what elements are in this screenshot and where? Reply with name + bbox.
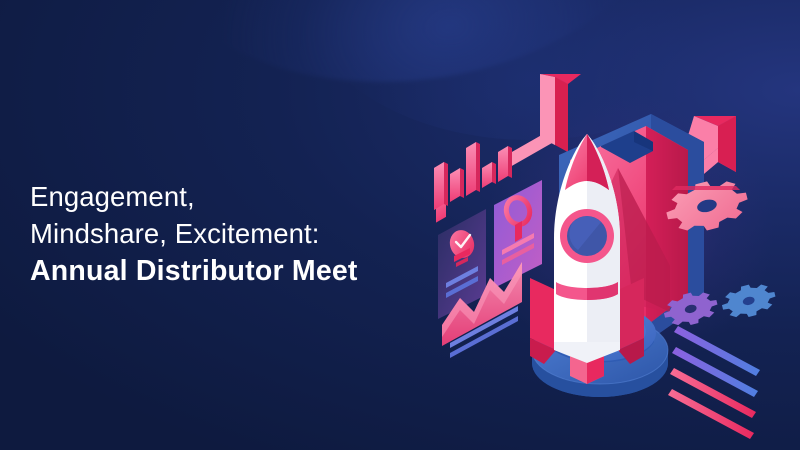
- gear-small-blue-icon: [719, 279, 779, 322]
- headline-block: Engagement, Mindshare, Excitement: Annua…: [30, 178, 430, 290]
- speed-lines: [668, 326, 760, 439]
- promo-banner: Engagement, Mindshare, Excitement: Annua…: [0, 0, 800, 450]
- headline-line-3: Annual Distributor Meet: [30, 253, 430, 290]
- rocket-launch-illustration: [418, 50, 800, 430]
- rocket-fin-left: [530, 278, 556, 350]
- headline-line-1: Engagement,: [30, 178, 430, 215]
- headline-line-2: Mindshare, Excitement:: [30, 215, 430, 252]
- rocket-fin-right: [618, 278, 644, 350]
